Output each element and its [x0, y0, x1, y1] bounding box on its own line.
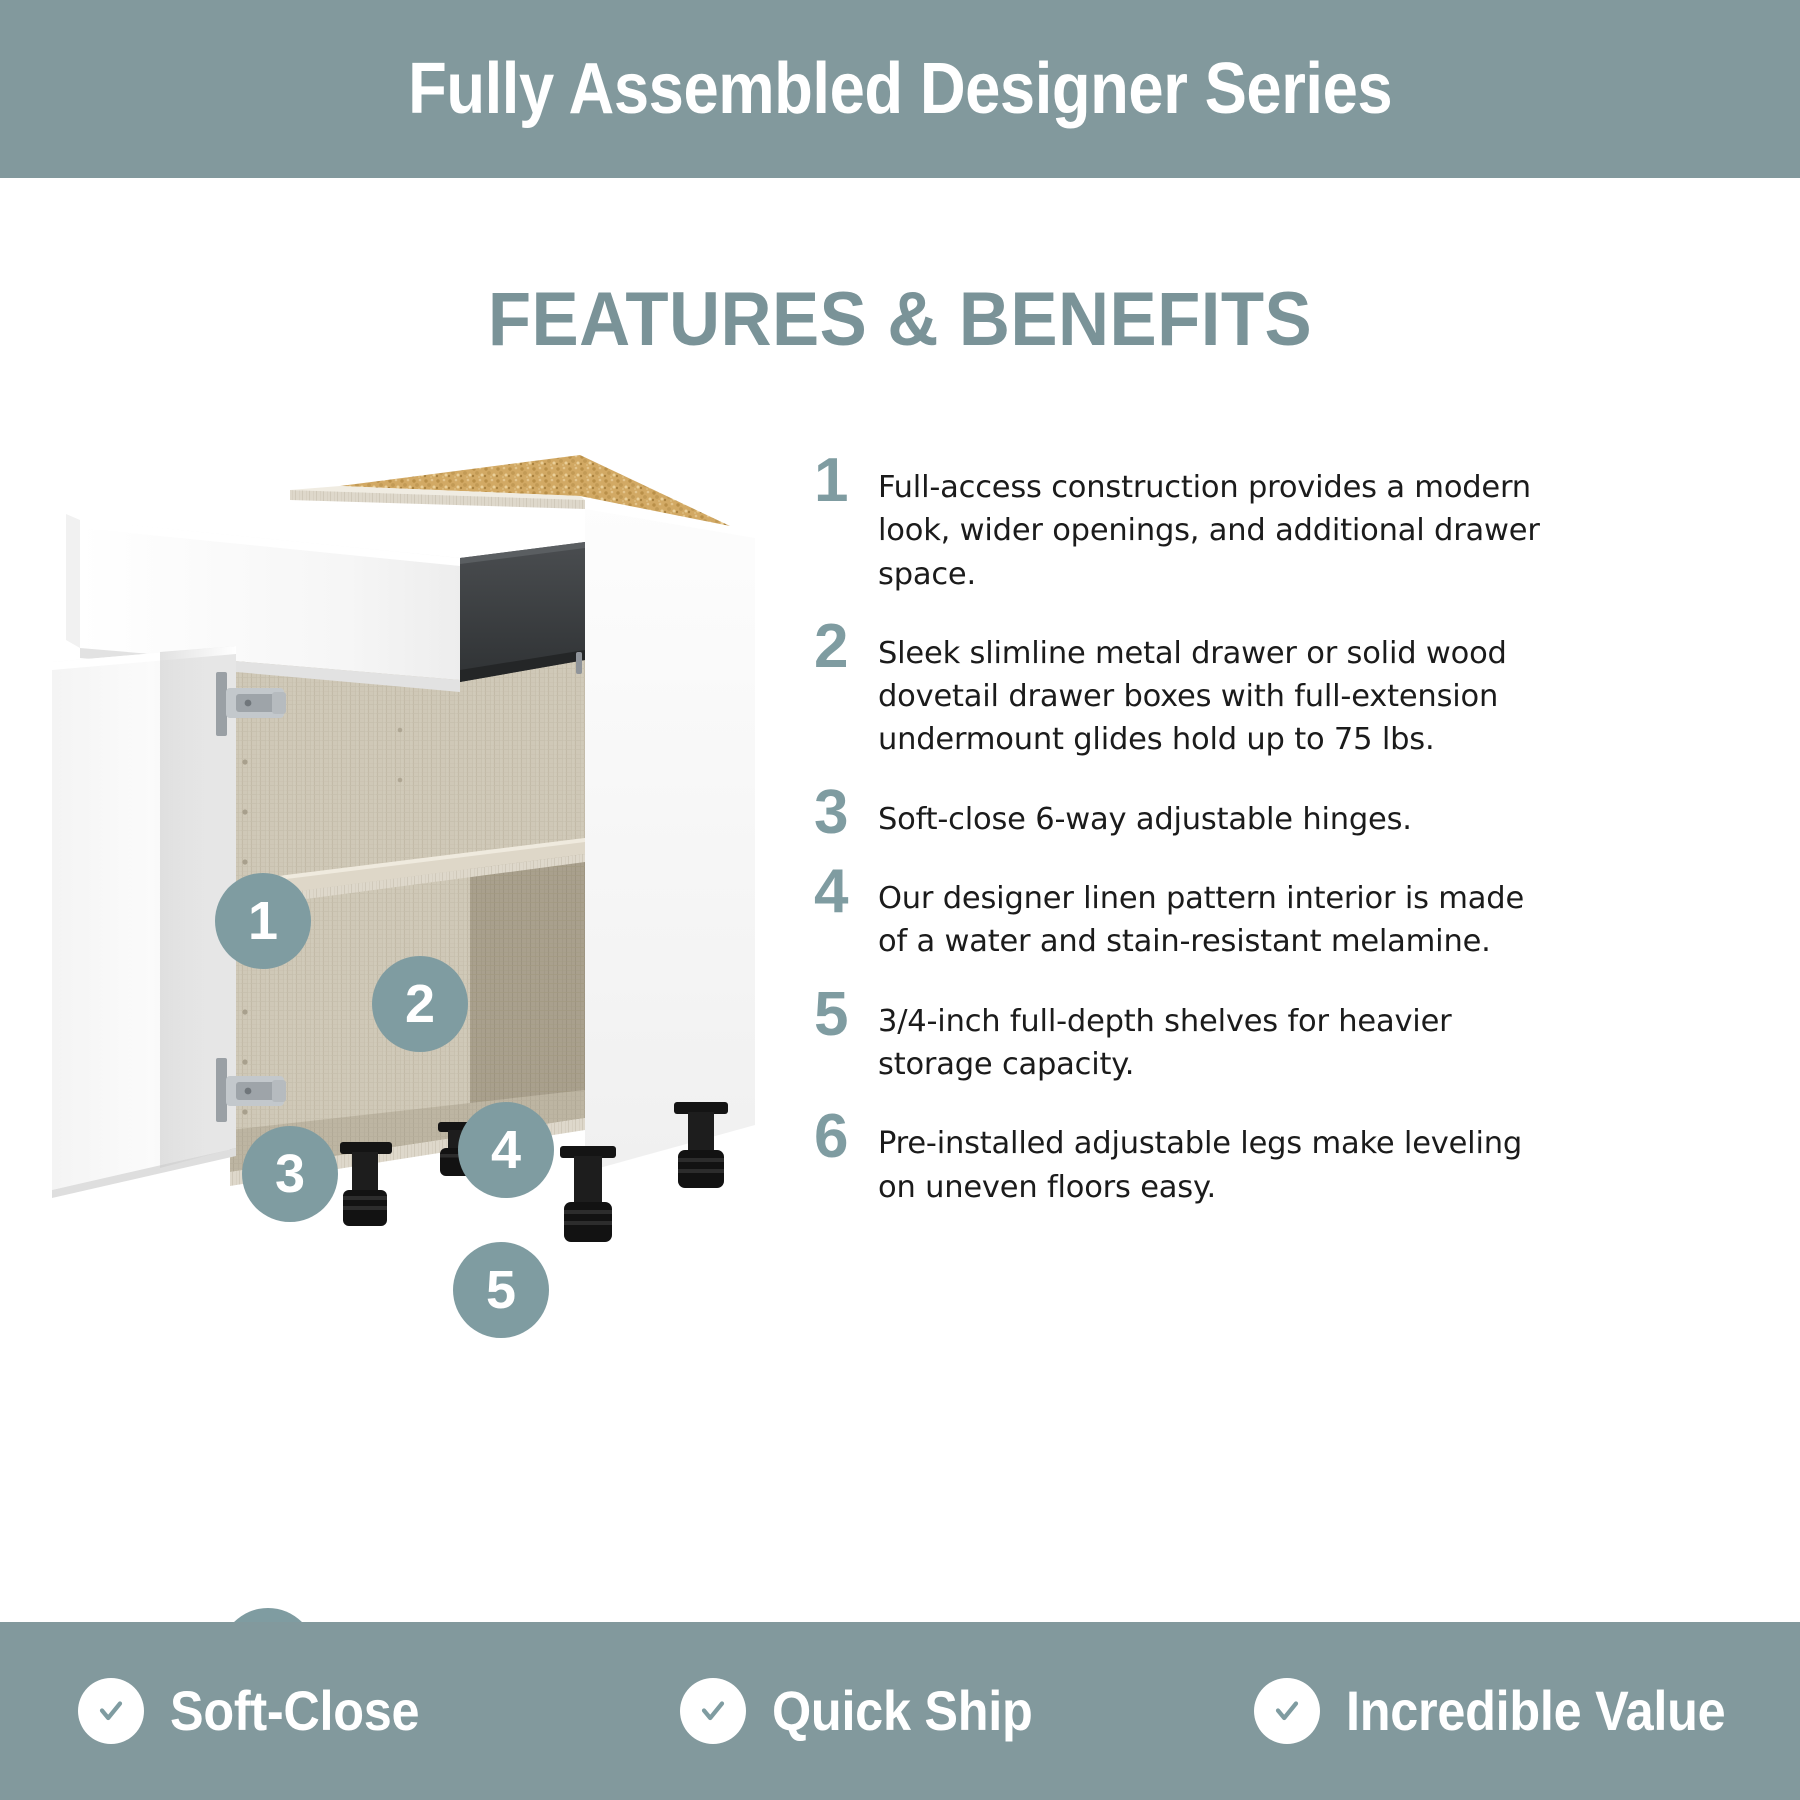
- footer-bar: Soft-Close Quick Ship Incredible Value: [0, 1622, 1800, 1800]
- check-circle-icon: [1254, 1678, 1320, 1744]
- feature-description: Full-access construction provides a mode…: [878, 452, 1540, 596]
- cabinet-interior-right-wall: [470, 840, 585, 1130]
- footer-label: Quick Ship: [772, 1683, 1033, 1739]
- callout-badge-3: 3: [242, 1126, 338, 1222]
- check-circle-icon: [680, 1678, 746, 1744]
- feature-item: 1 Full-access construction provides a mo…: [800, 452, 1540, 596]
- header-bar: Fully Assembled Designer Series: [0, 0, 1800, 178]
- footer-label: Soft-Close: [170, 1683, 419, 1739]
- callout-badge-1: 1: [215, 873, 311, 969]
- callout-badge-4: 4: [458, 1102, 554, 1198]
- infographic-page: Fully Assembled Designer Series FEATURES…: [0, 0, 1800, 1800]
- callout-badge-5: 5: [453, 1242, 549, 1338]
- feature-description: Our designer linen pattern interior is m…: [878, 863, 1540, 964]
- feature-item: 5 3/4-inch full-depth shelves for heavie…: [800, 986, 1540, 1087]
- check-circle-icon: [78, 1678, 144, 1744]
- feature-number: 3: [800, 784, 878, 841]
- callout-number: 2: [405, 977, 435, 1031]
- features-list: 1 Full-access construction provides a mo…: [800, 452, 1540, 1231]
- callout-badge-2: 2: [372, 956, 468, 1052]
- callout-number: 3: [275, 1147, 305, 1201]
- feature-number: 1: [800, 452, 878, 509]
- page-title: Fully Assembled Designer Series: [408, 53, 1392, 125]
- callout-number: 4: [491, 1123, 521, 1177]
- feature-number: 6: [800, 1108, 878, 1165]
- slimline-metal-drawer-box: [460, 542, 585, 682]
- section-heading: FEATURES & BENEFITS: [63, 282, 1737, 358]
- footer-badge-soft-close: Soft-Close: [0, 1678, 624, 1744]
- cabinet-door: [52, 646, 236, 1198]
- callout-number: 5: [486, 1263, 516, 1317]
- feature-item: 6 Pre-installed adjustable legs make lev…: [800, 1108, 1540, 1209]
- cabinet-right-side-panel: [585, 500, 755, 1172]
- feature-description: Soft-close 6-way adjustable hinges.: [878, 784, 1540, 841]
- feature-item: 4 Our designer linen pattern interior is…: [800, 863, 1540, 964]
- cabinet-illustration: 1 2 3 4 5 6: [40, 430, 800, 1330]
- footer-badge-incredible-value: Incredible Value: [1226, 1678, 1800, 1744]
- cabinet-diagram-svg: [40, 430, 800, 1330]
- feature-item: 2 Sleek slimline metal drawer or solid w…: [800, 618, 1540, 762]
- feature-description: 3/4-inch full-depth shelves for heavier …: [878, 986, 1540, 1087]
- callout-number: 1: [248, 894, 278, 948]
- feature-description: Pre-installed adjustable legs make level…: [878, 1108, 1540, 1209]
- feature-number: 5: [800, 986, 878, 1043]
- feature-number: 2: [800, 618, 878, 675]
- feature-description: Sleek slimline metal drawer or solid woo…: [878, 618, 1540, 762]
- feature-item: 3 Soft-close 6-way adjustable hinges.: [800, 784, 1540, 841]
- footer-badge-quick-ship: Quick Ship: [624, 1678, 1226, 1744]
- feature-number: 4: [800, 863, 878, 920]
- footer-label: Incredible Value: [1346, 1683, 1725, 1739]
